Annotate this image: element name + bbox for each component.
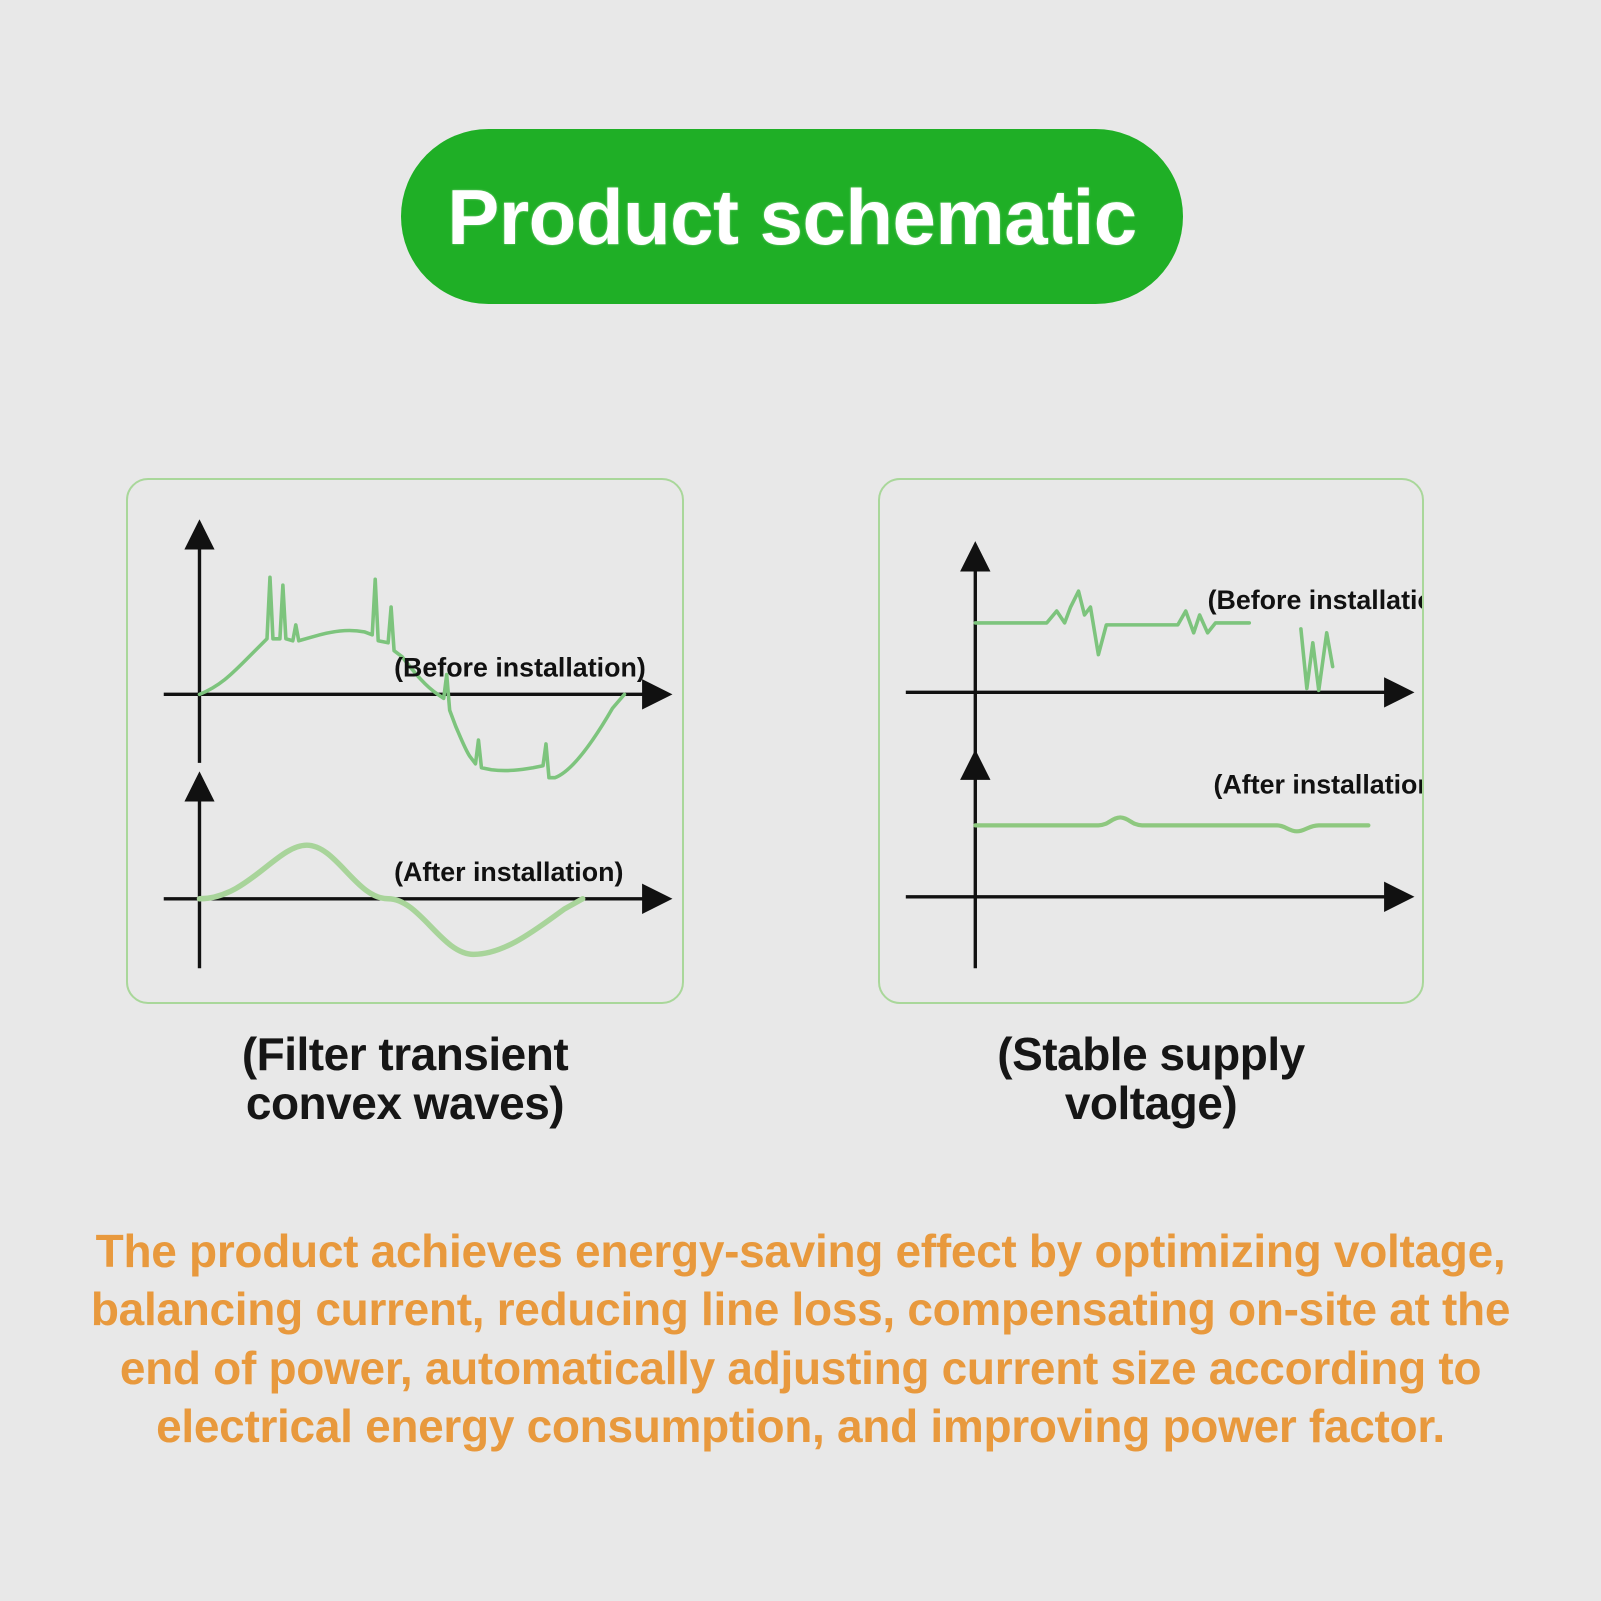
legend-before-left: (Before installation)	[394, 652, 646, 682]
waveform-chart-group-right: (Before installation) (After installatio…	[880, 480, 1422, 1002]
schematic-panel-stable-supply: (Before installation) (After installatio…	[878, 478, 1424, 1004]
chart-before-left: (Before installation)	[164, 540, 652, 778]
panel-caption-filter-transient: (Filter transient convex waves)	[126, 1030, 684, 1128]
chart-after-left: (After installation)	[164, 792, 652, 969]
description-paragraph: The product achieves energy-saving effec…	[52, 1222, 1549, 1456]
waveform-before-right-dropout	[1301, 629, 1333, 691]
legend-after-right: (After installation)	[1214, 770, 1422, 800]
waveform-chart-group-left: (Before installation) (After installatio…	[128, 480, 682, 1002]
legend-before-right: (Before installation)	[1208, 585, 1422, 615]
waveform-after-right	[975, 817, 1368, 831]
page-title: Product schematic	[447, 178, 1136, 256]
chart-before-right: (Before installation)	[906, 561, 1422, 765]
legend-after-left: (After installation)	[394, 857, 623, 887]
schematic-panel-filter-transient: (Before installation) (After installatio…	[126, 478, 684, 1004]
panel-caption-stable-supply: (Stable supply voltage)	[878, 1030, 1424, 1128]
title-banner: Product schematic	[401, 129, 1183, 304]
chart-after-right: (After installation)	[906, 770, 1422, 969]
